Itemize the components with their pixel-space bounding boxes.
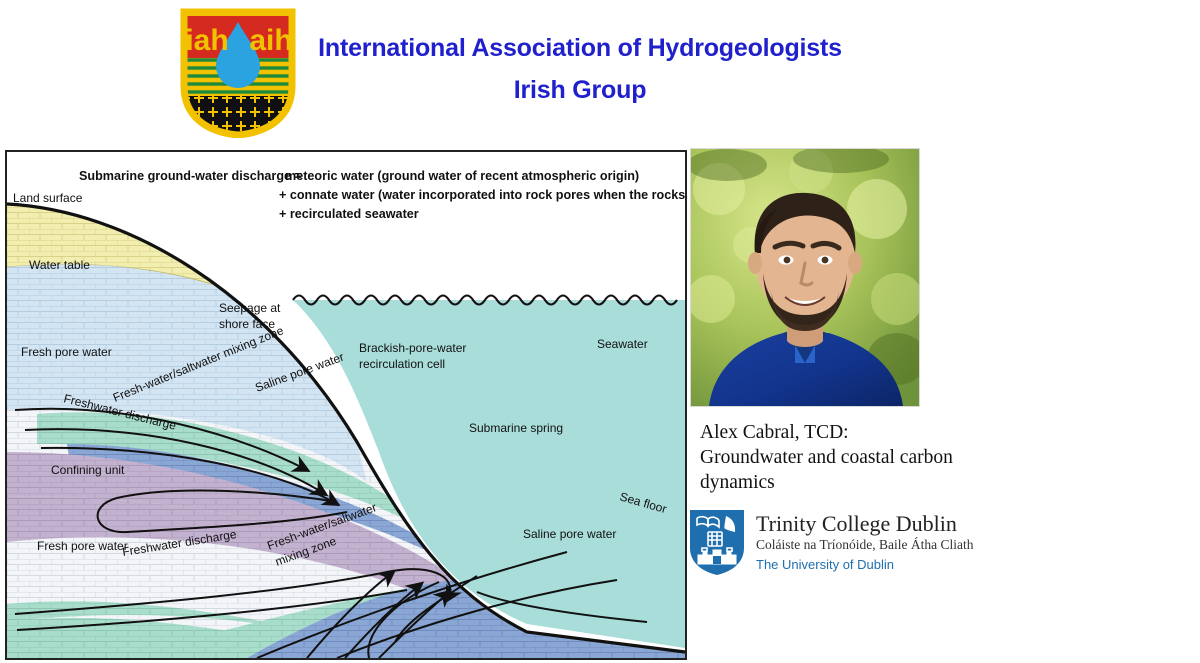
sgd-conceptual-diagram: Submarine ground-water discharge = meteo…	[5, 150, 687, 660]
label-fresh-pore-water-upper: Fresh pore water	[21, 345, 112, 359]
tcd-tagline: The University of Dublin	[756, 556, 973, 574]
equation-term: Submarine ground-water discharge =	[79, 169, 302, 183]
label-saline-pore-water-lower: Saline pore water	[523, 527, 616, 541]
organisation-title: International Association of Hydrogeolog…	[300, 30, 860, 108]
tcd-logo-block: Trinity College Dublin Coláiste na Tríon…	[688, 508, 1018, 580]
caption-line-1: Alex Cabral, TCD:	[700, 420, 1030, 445]
label-brackish-line2: recirculation cell	[359, 357, 445, 371]
caption-line-2: Groundwater and coastal carbon	[700, 445, 1030, 470]
equation-part2: + connate water (water incorporated into…	[279, 188, 685, 202]
equation-part1: meteoric water (ground water of recent a…	[285, 169, 639, 183]
iah-logo-text-right: aih	[249, 24, 292, 57]
label-brackish-line1: Brackish-pore-water	[359, 341, 466, 355]
label-fresh-pore-water-lower: Fresh pore water	[37, 539, 128, 553]
iah-logo-text-left: iah	[185, 24, 228, 57]
speaker-portrait-photo	[690, 148, 920, 407]
tcd-name-irish: Coláiste na Tríonóide, Baile Átha Cliath	[756, 536, 973, 554]
label-seepage-line1: Seepage at	[219, 301, 281, 315]
label-seawater: Seawater	[597, 337, 648, 351]
trinity-college-dublin-crest	[688, 508, 746, 576]
tcd-name-english: Trinity College Dublin	[756, 511, 973, 536]
iah-shield-logo: iah aih	[178, 8, 298, 138]
speaker-caption: Alex Cabral, TCD: Groundwater and coasta…	[700, 420, 1030, 495]
label-submarine-spring: Submarine spring	[469, 421, 563, 435]
org-name-line2: Irish Group	[300, 72, 860, 108]
caption-line-3: dynamics	[700, 470, 1030, 495]
label-water-table: Water table	[29, 258, 90, 272]
equation-part3: + recirculated seawater	[279, 207, 419, 221]
page-header: iah aih International Association of Hyd…	[0, 0, 1200, 145]
label-confining-unit: Confining unit	[51, 463, 125, 477]
label-land-surface: Land surface	[13, 191, 83, 205]
org-name-line1: International Association of Hydrogeolog…	[300, 30, 860, 66]
